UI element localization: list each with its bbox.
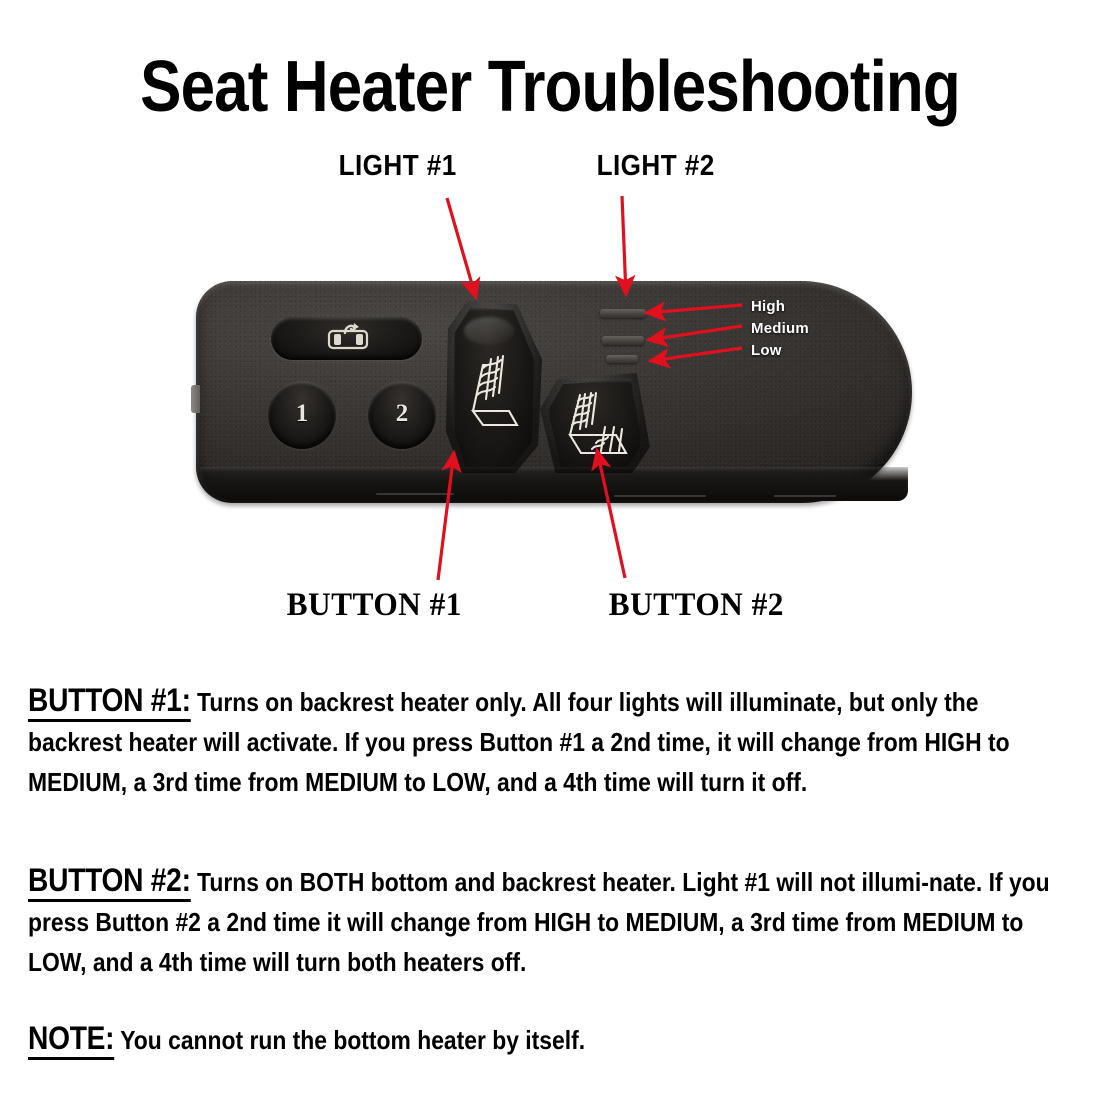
level-label-low: Low <box>751 342 782 359</box>
indicator-light-medium <box>602 336 644 345</box>
full-seat-heater-icon <box>548 379 642 467</box>
paragraph-1-lead: BUTTON #1: <box>28 682 191 722</box>
indicator-light-high <box>600 309 646 318</box>
paragraph-button-1: BUTTON #1: Turns on backrest heater only… <box>28 680 1073 802</box>
preset-1-label: 1 <box>296 400 309 428</box>
panel-seam <box>614 495 706 497</box>
preset-2-label: 2 <box>396 400 409 428</box>
seat-preset-button-1[interactable]: 1 <box>268 381 336 449</box>
indicator-light-low <box>606 355 638 363</box>
seat-heater-control-panel: 1 2 <box>196 281 912 503</box>
paragraph-button-2: BUTTON #2: Turns on BOTH bottom and back… <box>28 860 1073 982</box>
paragraph-2-lead: BUTTON #2: <box>28 862 191 902</box>
seat-memory-icon <box>271 317 422 360</box>
panel-seam <box>376 493 454 495</box>
callout-label-button-1: BUTTON #1 <box>287 587 462 624</box>
seat-preset-button-2[interactable]: 2 <box>368 381 436 449</box>
callout-label-light-1: LIGHT #1 <box>339 150 457 183</box>
paragraph-3-text: You cannot run the bottom heater by itse… <box>114 1025 585 1055</box>
panel-side-tab <box>191 385 200 413</box>
level-label-medium: Medium <box>751 320 809 337</box>
callout-label-button-2: BUTTON #2 <box>609 587 784 624</box>
panel-seam <box>774 495 836 497</box>
full-seat-heater-button[interactable] <box>548 379 642 467</box>
page-title: Seat Heater Troubleshooting <box>77 46 1023 128</box>
level-label-high: High <box>751 298 785 315</box>
paragraph-note: NOTE: You cannot run the bottom heater b… <box>28 1018 1073 1060</box>
paragraph-3-lead: NOTE: <box>28 1020 114 1060</box>
infographic-page: Seat Heater Troubleshooting LIGHT #1 LIG… <box>0 0 1100 1100</box>
seat-memory-button[interactable] <box>271 317 422 360</box>
callout-label-light-2: LIGHT #2 <box>597 150 715 183</box>
